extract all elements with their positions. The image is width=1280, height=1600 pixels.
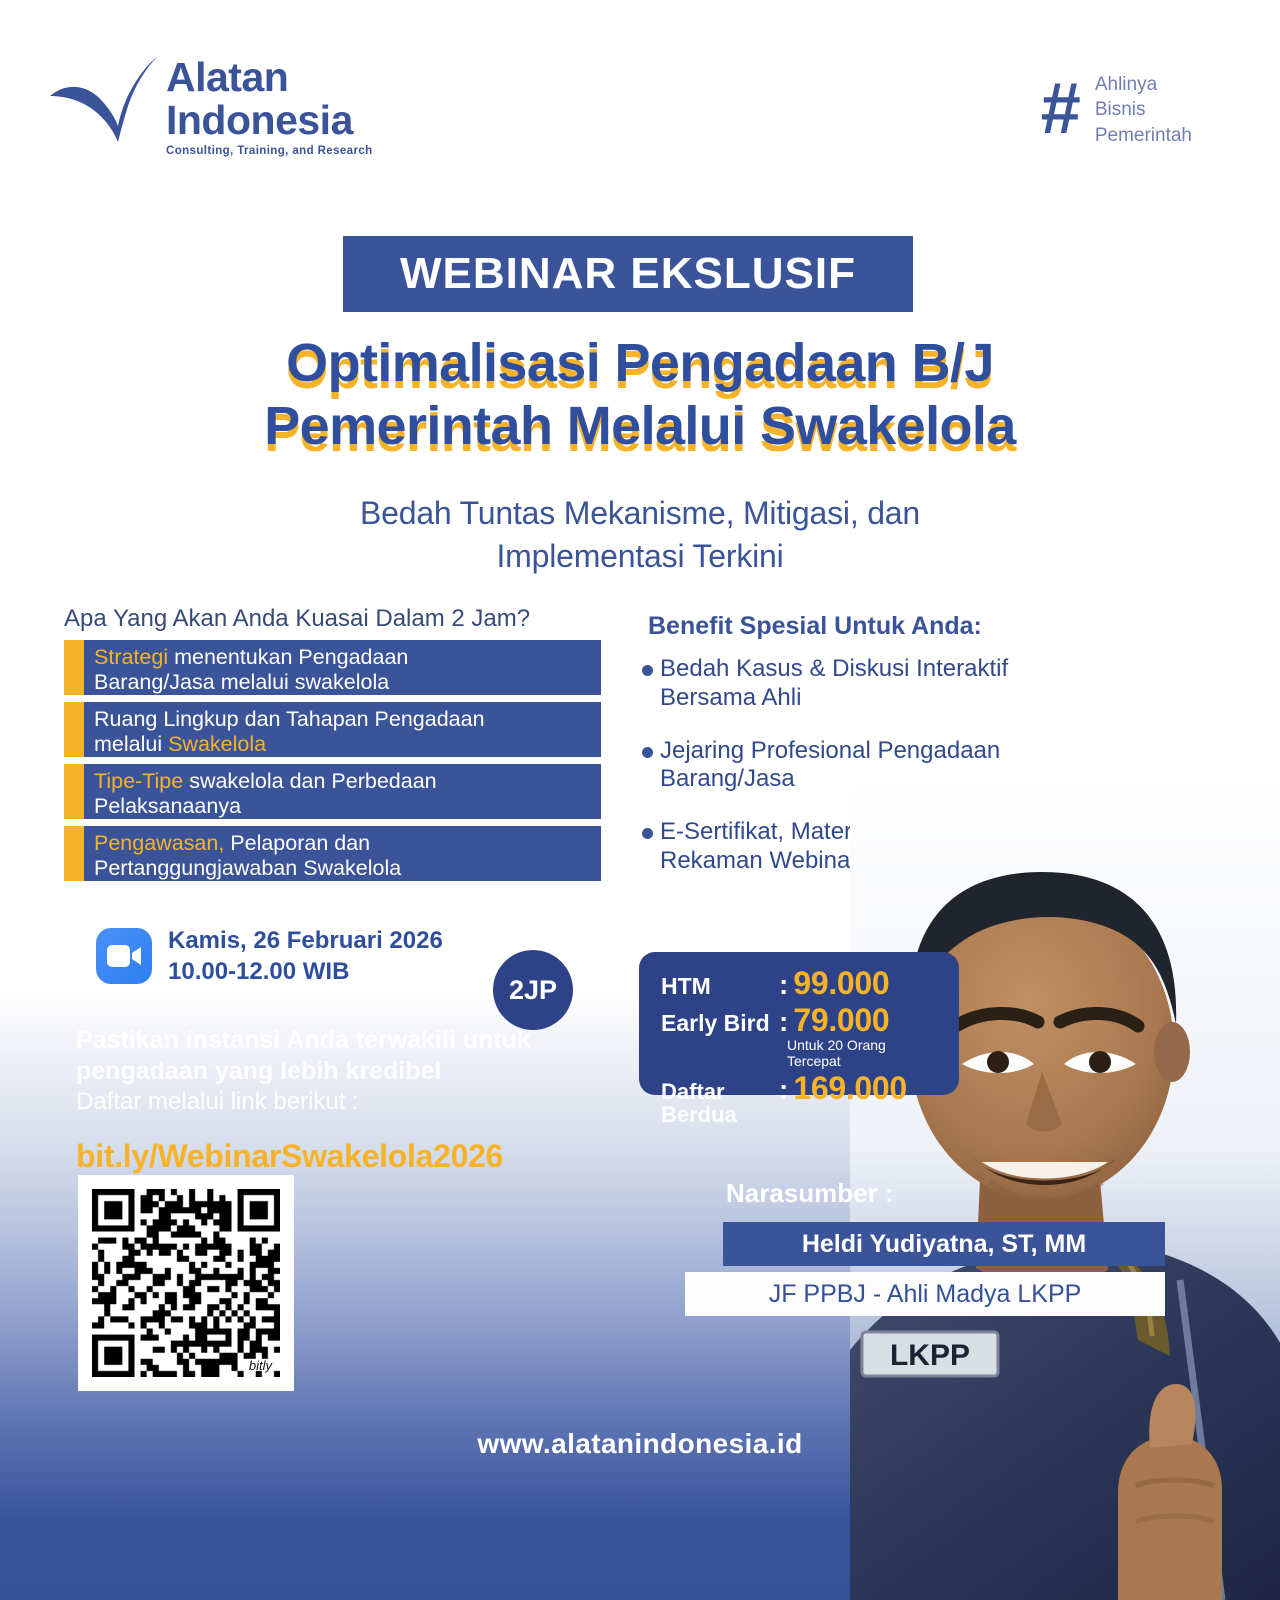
duo-label-line-2: Berdua [661, 1103, 779, 1126]
page-subtitle: Bedah Tuntas Mekanisme, Mitigasi, dan Im… [0, 492, 1280, 577]
pricing-row: Early Bird:79.000 [661, 1002, 941, 1039]
logo-line-1: Alatan [166, 56, 373, 99]
benefits-heading: Benefit Spesial Untuk Anda: [648, 612, 982, 641]
hash-line-1: Ahlinya [1095, 72, 1192, 97]
pricing-note: Untuk 20 Orang Tercepat [787, 1037, 941, 1069]
video-camera-glyph [107, 945, 141, 967]
pricing-row: HTM:99.000 [661, 965, 941, 1002]
page-title: Optimalisasi Pengadaan B/J Pemerintah Me… [0, 332, 1280, 458]
jp-badge: 2JP [493, 950, 573, 1030]
duo-price-value: 169.000 [793, 1070, 907, 1107]
pricing-value: 99.000 [793, 965, 889, 1002]
qr-code-canvas[interactable] [92, 1189, 280, 1377]
topics-heading: Apa Yang Akan Anda Kuasai Dalam 2 Jam? [64, 605, 530, 633]
duo-label-line-1: Daftar [661, 1080, 779, 1103]
topic-text: Strategi menentukan PengadaanBarang/Jasa… [84, 640, 601, 695]
topic-text: Tipe-Tipe swakelola dan PerbedaanPelaksa… [84, 764, 601, 819]
title-line-1: Optimalisasi Pengadaan B/J [0, 332, 1280, 395]
speaker-label: Narasumber : [726, 1178, 894, 1209]
alatan-logo: Alatan Indonesia Consulting, Training, a… [48, 48, 373, 157]
subtitle-line-2: Implementasi Terkini [0, 535, 1280, 578]
bullet-icon [642, 747, 653, 758]
checkmark-bird-logo-icon [48, 54, 160, 144]
qr-code[interactable]: bitly [78, 1175, 294, 1391]
logo-tagline: Consulting, Training, and Research [166, 145, 373, 157]
speaker-portrait-illustration: LKPP [850, 780, 1280, 1600]
cta-normal-line: Daftar melalui link berikut : [76, 1088, 636, 1116]
event-date: Kamis, 26 Februari 2026 [168, 925, 443, 956]
topic-accent-bar [64, 640, 84, 695]
speaker-photo: LKPP [850, 780, 1280, 1600]
cta-bold-line-2: pengadaan yang lebih kredibel [76, 1056, 636, 1087]
topic-item: Tipe-Tipe swakelola dan PerbedaanPelaksa… [64, 764, 601, 819]
topics-list: Strategi menentukan PengadaanBarang/Jasa… [64, 640, 601, 888]
qr-brand-label: bitly [249, 1358, 272, 1373]
pricing-colon: : [779, 1006, 788, 1038]
topic-item: Strategi menentukan PengadaanBarang/Jasa… [64, 640, 601, 695]
logo-line-2: Indonesia [166, 99, 373, 142]
pricing-row-duo: Daftar Berdua : 169.000 [661, 1070, 941, 1126]
cta-bold-line-1: Pastikan instansi Anda terwakili untuk [76, 1025, 636, 1056]
bullet-icon [642, 665, 653, 676]
svg-text:LKPP: LKPP [890, 1339, 970, 1372]
pricing-label: Early Bird [661, 1011, 779, 1035]
webinar-banner: WEBINAR EKSLUSIF [343, 236, 913, 312]
website-url[interactable]: www.alatanindonesia.id [0, 1428, 1280, 1460]
schedule-block: Kamis, 26 Februari 2026 10.00-12.00 WIB [96, 925, 443, 987]
benefit-item: Bedah Kasus & Diskusi Interaktif Bersama… [642, 655, 1062, 713]
hashtag-tagline: # Ahlinya Bisnis Pemerintah [1041, 72, 1192, 148]
topic-item: Ruang Lingkup dan Tahapan Pengadaanmelal… [64, 702, 601, 757]
speaker-name-bar: Heldi Yudiyatna, ST, MM [723, 1222, 1165, 1266]
topic-text: Pengawasan, Pelaporan danPertanggungjawa… [84, 826, 601, 881]
bullet-icon [642, 828, 653, 839]
registration-link[interactable]: bit.ly/WebinarSwakelola2026 [76, 1138, 636, 1175]
topic-text: Ruang Lingkup dan Tahapan Pengadaanmelal… [84, 702, 601, 757]
zoom-video-icon [96, 928, 152, 984]
title-line-2: Pemerintah Melalui Swakelola [0, 395, 1280, 458]
speaker-role-bar: JF PPBJ - Ahli Madya LKPP [685, 1272, 1165, 1316]
topic-accent-bar [64, 702, 84, 757]
lkpp-badge-icon: LKPP [862, 1332, 998, 1376]
event-time: 10.00-12.00 WIB [168, 956, 443, 987]
banner-label: WEBINAR EKSLUSIF [400, 249, 856, 299]
topic-accent-bar [64, 764, 84, 819]
subtitle-line-1: Bedah Tuntas Mekanisme, Mitigasi, dan [0, 492, 1280, 535]
topic-accent-bar [64, 826, 84, 881]
speaker-role: JF PPBJ - Ahli Madya LKPP [769, 1280, 1082, 1309]
pricing-card: HTM:99.000Early Bird:79.000 Untuk 20 Ora… [639, 952, 959, 1095]
cta-block: Pastikan instansi Anda terwakili untuk p… [76, 1025, 636, 1175]
pricing-value: 79.000 [793, 1002, 889, 1039]
speaker-name: Heldi Yudiyatna, ST, MM [802, 1230, 1086, 1259]
hash-line-2: Bisnis [1095, 97, 1192, 122]
hash-line-3: Pemerintah [1095, 123, 1192, 148]
benefit-text: Bedah Kasus & Diskusi Interaktif Bersama… [660, 655, 1062, 713]
topic-item: Pengawasan, Pelaporan danPertanggungjawa… [64, 826, 601, 881]
duo-colon: : [779, 1074, 788, 1106]
pricing-colon: : [779, 969, 788, 1001]
hash-icon: # [1041, 81, 1081, 139]
webinar-poster: Alatan Indonesia Consulting, Training, a… [0, 0, 1280, 1600]
pricing-label: HTM [661, 974, 779, 998]
